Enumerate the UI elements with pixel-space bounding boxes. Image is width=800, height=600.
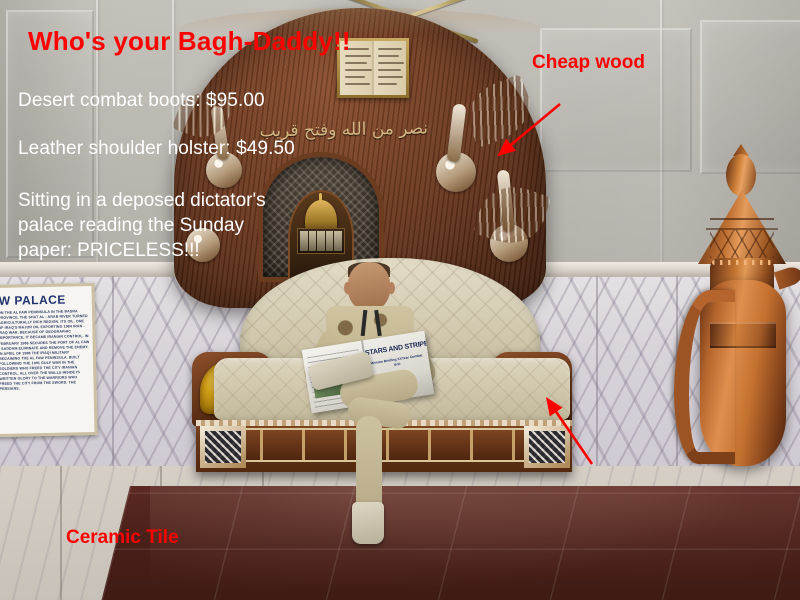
soldier-ear-left	[344, 282, 351, 294]
marble-joint	[112, 276, 114, 474]
floor-joint	[60, 466, 62, 600]
dallah-rivets	[712, 260, 772, 265]
dallah-handle	[674, 290, 735, 464]
dallah-spout	[774, 264, 800, 289]
punchline-block: Sitting in a deposed dictator's palace r…	[18, 188, 266, 263]
copper-coffee-pot	[676, 140, 800, 466]
museum-placard: W PALACE ON THE AL FAW PENINSULA IN THE …	[0, 283, 98, 437]
newspaper-subhead: Mission Briefing XXYear Combat Unit	[367, 353, 426, 372]
plinth-inlay-right	[524, 426, 570, 468]
dallah-lid-engraving	[710, 230, 774, 258]
dallah-lid-band	[710, 218, 774, 220]
marble-joint	[596, 276, 598, 474]
desert-boot-standing	[352, 502, 384, 544]
soldier-ear-right	[388, 282, 395, 294]
soldier-head	[348, 262, 390, 310]
placard-heading: W PALACE	[0, 292, 89, 308]
meme-photo-canvas: W PALACE ON THE AL FAW PENINSULA IN THE …	[0, 0, 800, 600]
price-line-holster: Leather shoulder holster: $49.50	[18, 138, 295, 160]
dallah-finial	[726, 154, 756, 196]
price-line-boots: Desert combat boots: $95.00	[18, 90, 265, 112]
callout-ceramic-tile: Ceramic Tile	[66, 527, 179, 549]
punchline-line-1: Sitting in a deposed dictator's	[18, 188, 266, 213]
callout-cheap-wood: Cheap wood	[532, 52, 645, 74]
seated-soldier: STARS AND STRIPES Mission Briefing XXYea…	[300, 262, 500, 562]
wall-recessed-panel	[540, 28, 692, 172]
punchline-line-3: paper: PRICELESS!!!	[18, 238, 266, 263]
plinth-inlay-left	[200, 426, 246, 468]
punchline-line-2: palace reading the Sunday	[18, 213, 266, 238]
placard-body: ON THE AL FAW PENINSULA IN THE BASRA PRO…	[0, 309, 91, 392]
meme-title: Who's your Bagh-Daddy!!	[28, 26, 351, 57]
niche-mini-panel	[297, 228, 345, 254]
